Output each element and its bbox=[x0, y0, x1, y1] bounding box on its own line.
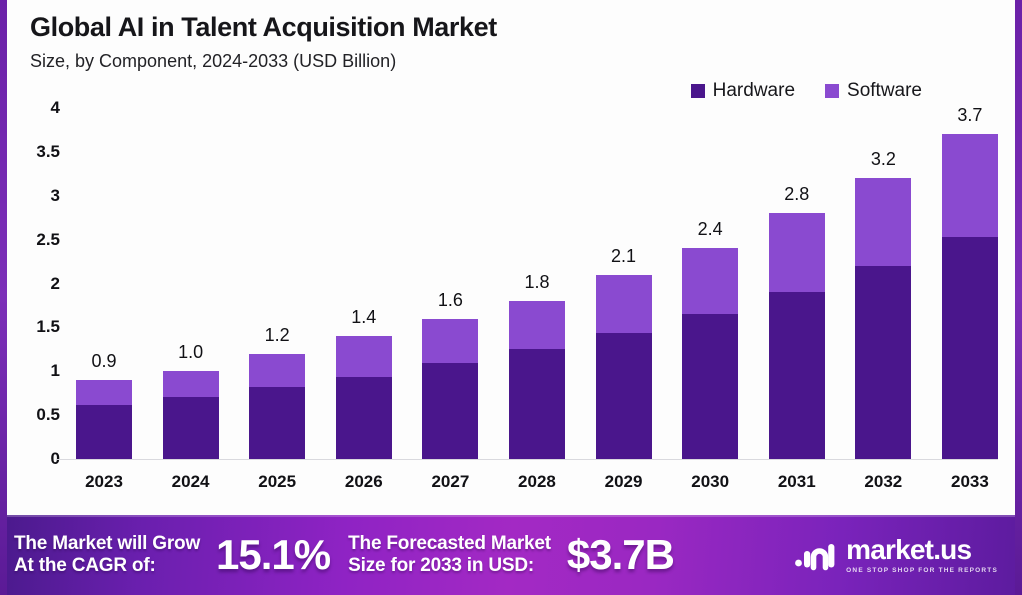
hardware-swatch-icon bbox=[691, 84, 705, 98]
bar-segment-software[interactable] bbox=[249, 354, 305, 387]
bar-value-label: 2.1 bbox=[611, 246, 636, 267]
bar-segment-hardware[interactable] bbox=[596, 333, 652, 459]
bar-segment-hardware[interactable] bbox=[855, 266, 911, 459]
x-axis-tick-2033: 2033 bbox=[940, 472, 1000, 492]
bar-series-container: 0.91.01.21.41.61.82.12.42.83.23.7 bbox=[68, 108, 1006, 459]
bar-segment-hardware[interactable] bbox=[163, 397, 219, 459]
x-axis-tick-2025: 2025 bbox=[247, 472, 307, 492]
x-axis-tick-2032: 2032 bbox=[853, 472, 913, 492]
y-axis-tick: 2 bbox=[51, 274, 60, 294]
x-axis-tick-2029: 2029 bbox=[594, 472, 654, 492]
chart-header: Global AI in Talent Acquisition Market S… bbox=[30, 12, 497, 72]
bar-stack bbox=[509, 301, 565, 459]
x-axis-tick-2027: 2027 bbox=[420, 472, 480, 492]
bar-segment-software[interactable] bbox=[942, 134, 998, 237]
bar-group-2024[interactable]: 1.0 bbox=[161, 108, 221, 459]
y-axis-tick: 2.5 bbox=[36, 230, 60, 250]
bar-stack bbox=[855, 178, 911, 459]
bar-group-2028[interactable]: 1.8 bbox=[507, 108, 567, 459]
forecast-value: $3.7B bbox=[567, 531, 674, 579]
bar-group-2031[interactable]: 2.8 bbox=[767, 108, 827, 459]
forecast-block: The Forecasted Market Size for 2033 in U… bbox=[348, 533, 551, 578]
legend-item-hardware[interactable]: Hardware bbox=[691, 80, 795, 102]
market-us-logo-mark-icon bbox=[793, 539, 837, 571]
bar-value-label: 1.2 bbox=[265, 325, 290, 346]
software-swatch-icon bbox=[825, 84, 839, 98]
bar-value-label: 2.4 bbox=[698, 219, 723, 240]
x-axis-tick-2024: 2024 bbox=[161, 472, 221, 492]
legend-item-software[interactable]: Software bbox=[825, 80, 922, 102]
bar-stack bbox=[163, 371, 219, 459]
bar-value-label: 2.8 bbox=[784, 184, 809, 205]
bar-value-label: 1.8 bbox=[524, 272, 549, 293]
x-axis-tick-2028: 2028 bbox=[507, 472, 567, 492]
bar-value-label: 0.9 bbox=[91, 351, 116, 372]
bar-group-2027[interactable]: 1.6 bbox=[420, 108, 480, 459]
bar-group-2023[interactable]: 0.9 bbox=[74, 108, 134, 459]
y-axis-tick: 3 bbox=[51, 186, 60, 206]
bar-stack bbox=[682, 248, 738, 459]
x-axis-tick-2023: 2023 bbox=[74, 472, 134, 492]
bar-value-label: 1.0 bbox=[178, 342, 203, 363]
y-axis-tick: 4 bbox=[51, 98, 60, 118]
market-us-logo[interactable]: market.us ONE STOP SHOP FOR THE REPORTS bbox=[793, 536, 998, 574]
bar-stack bbox=[769, 213, 825, 459]
market-us-logo-text: market.us ONE STOP SHOP FOR THE REPORTS bbox=[846, 536, 998, 574]
bar-group-2032[interactable]: 3.2 bbox=[853, 108, 913, 459]
bar-group-2026[interactable]: 1.4 bbox=[334, 108, 394, 459]
legend-label: Software bbox=[847, 80, 922, 102]
forecast-label-line2: Size for 2033 in USD: bbox=[348, 555, 551, 577]
bar-segment-hardware[interactable] bbox=[682, 314, 738, 459]
y-axis-tick: 0.5 bbox=[36, 405, 60, 425]
bar-segment-hardware[interactable] bbox=[942, 237, 998, 459]
bar-stack bbox=[942, 134, 998, 459]
cagr-label-line1: The Market will Grow bbox=[14, 533, 200, 555]
bar-group-2033[interactable]: 3.7 bbox=[940, 108, 1000, 459]
right-accent-strip bbox=[1015, 0, 1022, 595]
bar-stack bbox=[422, 319, 478, 459]
cagr-block: The Market will Grow At the CAGR of: bbox=[14, 533, 200, 578]
bar-group-2025[interactable]: 1.2 bbox=[247, 108, 307, 459]
x-axis: 2023202420252026202720282029203020312032… bbox=[68, 472, 1006, 492]
cagr-value: 15.1% bbox=[216, 531, 330, 579]
forecast-label: The Forecasted Market Size for 2033 in U… bbox=[348, 533, 551, 578]
bar-value-label: 3.7 bbox=[957, 105, 982, 126]
bar-segment-hardware[interactable] bbox=[422, 363, 478, 459]
bar-segment-hardware[interactable] bbox=[249, 387, 305, 459]
x-axis-tick-2031: 2031 bbox=[767, 472, 827, 492]
bar-segment-software[interactable] bbox=[509, 301, 565, 349]
logo-tagline: ONE STOP SHOP FOR THE REPORTS bbox=[846, 567, 998, 574]
x-axis-tick-2030: 2030 bbox=[680, 472, 740, 492]
bar-stack bbox=[76, 380, 132, 459]
bar-segment-hardware[interactable] bbox=[336, 377, 392, 459]
bar-segment-software[interactable] bbox=[682, 248, 738, 314]
bar-value-label: 1.4 bbox=[351, 307, 376, 328]
bar-segment-software[interactable] bbox=[76, 380, 132, 405]
y-axis-tick: 1 bbox=[51, 361, 60, 381]
bar-segment-hardware[interactable] bbox=[76, 405, 132, 459]
bar-segment-software[interactable] bbox=[336, 336, 392, 376]
axis-baseline bbox=[56, 459, 998, 460]
bar-stack bbox=[249, 354, 305, 459]
plot-area: 00.511.522.533.54 0.91.01.21.41.61.82.12… bbox=[68, 100, 1006, 467]
left-accent-strip bbox=[0, 0, 7, 595]
cagr-label: The Market will Grow At the CAGR of: bbox=[14, 533, 200, 578]
bar-group-2029[interactable]: 2.1 bbox=[594, 108, 654, 459]
y-axis-tick: 3.5 bbox=[36, 142, 60, 162]
bar-segment-software[interactable] bbox=[769, 213, 825, 292]
bar-segment-software[interactable] bbox=[163, 371, 219, 396]
summary-banner: The Market will Grow At the CAGR of: 15.… bbox=[0, 515, 1022, 595]
infographic-card: Global AI in Talent Acquisition Market S… bbox=[0, 0, 1022, 595]
bar-stack bbox=[596, 275, 652, 459]
page-subtitle: Size, by Component, 2024-2033 (USD Billi… bbox=[30, 51, 497, 72]
logo-wordmark: market.us bbox=[846, 536, 998, 564]
bar-segment-software[interactable] bbox=[596, 275, 652, 333]
bar-segment-software[interactable] bbox=[855, 178, 911, 266]
bar-segment-hardware[interactable] bbox=[769, 292, 825, 459]
forecast-label-line1: The Forecasted Market bbox=[348, 533, 551, 555]
legend-label: Hardware bbox=[713, 80, 795, 102]
bar-group-2030[interactable]: 2.4 bbox=[680, 108, 740, 459]
bar-segment-software[interactable] bbox=[422, 319, 478, 364]
chart-legend: HardwareSoftware bbox=[691, 80, 922, 102]
cagr-label-line2: At the CAGR of: bbox=[14, 555, 200, 577]
y-axis-tick: 1.5 bbox=[36, 317, 60, 337]
bar-stack bbox=[336, 336, 392, 459]
bar-segment-hardware[interactable] bbox=[509, 349, 565, 459]
page-title: Global AI in Talent Acquisition Market bbox=[30, 12, 497, 43]
bar-value-label: 3.2 bbox=[871, 149, 896, 170]
x-axis-tick-2026: 2026 bbox=[334, 472, 394, 492]
bar-value-label: 1.6 bbox=[438, 290, 463, 311]
y-axis: 00.511.522.533.54 bbox=[10, 100, 60, 459]
